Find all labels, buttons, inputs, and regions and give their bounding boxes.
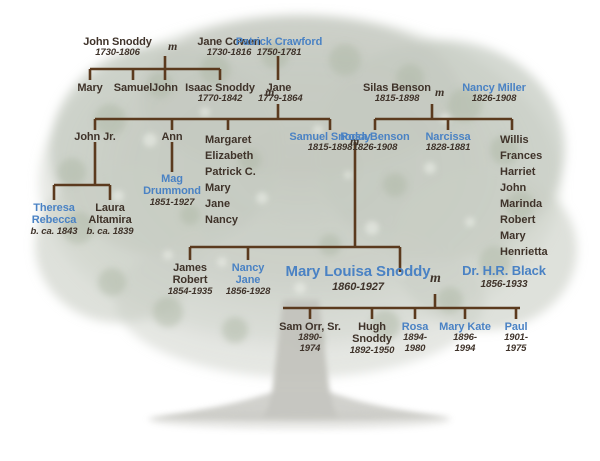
person-laura-altamira[interactable]: Laura Altamira b. ca. 1839 xyxy=(78,202,142,237)
person-sam-orr-sr[interactable]: Sam Orr, Sr. 1890- 1974 xyxy=(275,321,345,355)
person-name-line1: James xyxy=(160,262,220,274)
person-name: Dr. H.R. Black xyxy=(440,264,568,279)
list-item: Elizabeth xyxy=(205,148,256,164)
list-item: Marinda xyxy=(500,196,548,212)
list-item: Harriet xyxy=(500,164,548,180)
person-dates: 1779-1864 xyxy=(258,94,300,105)
person-name-line1: Laura xyxy=(78,202,142,214)
person-dates: 1770-1842 xyxy=(178,94,262,105)
person-rosa[interactable]: Rosa 1894- 1980 xyxy=(392,321,438,355)
person-dates: 1730-1806 xyxy=(70,48,165,59)
person-name-line2: Rebecca xyxy=(22,214,86,226)
list-item: John xyxy=(500,180,548,196)
person-name: Mary Louisa Snoddy xyxy=(283,264,433,281)
person-dr-hr-black[interactable]: Dr. H.R. Black 1856-1933 xyxy=(440,264,568,290)
isaac-other-children-list: Margaret Elizabeth Patrick C. Mary Jane … xyxy=(205,132,256,228)
list-item: Frances xyxy=(500,148,548,164)
person-dates: 1826-1908 xyxy=(448,94,540,105)
person-dates: 1750-1781 xyxy=(224,48,334,59)
person-dates-line2: 1994 xyxy=(433,344,497,355)
person-name-line1: Nancy xyxy=(218,262,278,274)
family-tree-image: John Snoddy 1730-1806 m Jane Cowen 1730-… xyxy=(0,0,600,461)
person-mag-drummond[interactable]: Mag Drummond 1851-1927 xyxy=(140,173,204,208)
person-name-line2: Jane xyxy=(218,274,278,286)
person-dates-line2: 1980 xyxy=(392,344,438,355)
person-nancy-jane[interactable]: Nancy Jane 1856-1928 xyxy=(218,262,278,297)
person-paul[interactable]: Paul 1901- 1975 xyxy=(494,321,538,355)
person-rosa-benson[interactable]: Rosa Benson 1826-1908 xyxy=(332,131,418,154)
list-item: Margaret xyxy=(205,132,256,148)
person-isaac-snoddy[interactable]: Isaac Snoddy 1770-1842 xyxy=(178,82,262,105)
list-item: Henrietta xyxy=(500,244,548,260)
marriage-symbol-benson-miller: m xyxy=(435,86,444,98)
person-dates: 1826-1908 xyxy=(332,143,418,154)
list-item: Jane xyxy=(205,196,256,212)
list-item: Mary xyxy=(205,180,256,196)
person-dates: 1851-1927 xyxy=(140,198,204,209)
person-dates: 1860-1927 xyxy=(283,281,433,293)
person-theresa-rebecca[interactable]: Theresa Rebecca b. ca. 1843 xyxy=(22,202,86,237)
list-item: Mary xyxy=(500,228,548,244)
person-name: Ann xyxy=(152,131,192,143)
list-item: Patrick C. xyxy=(205,164,256,180)
person-narcissa[interactable]: Narcissa 1828-1881 xyxy=(412,131,484,154)
person-name-line1: Theresa xyxy=(22,202,86,214)
person-john-snoddy[interactable]: John Snoddy 1730-1806 xyxy=(70,36,165,59)
person-nancy-miller[interactable]: Nancy Miller 1826-1908 xyxy=(448,82,540,105)
person-name: John Jr. xyxy=(62,131,128,143)
person-mary-kate[interactable]: Mary Kate 1896- 1994 xyxy=(433,321,497,355)
person-silas-benson[interactable]: Silas Benson 1815-1898 xyxy=(352,82,442,105)
person-jane[interactable]: Jane 1779-1864 xyxy=(258,82,300,105)
list-item: Willis xyxy=(500,132,548,148)
person-dates: 1856-1933 xyxy=(440,279,568,290)
list-item: Robert xyxy=(500,212,548,228)
person-name-line1: Mag xyxy=(140,173,204,185)
person-name-line2: Drummond xyxy=(140,185,204,197)
person-dates: 1828-1881 xyxy=(412,143,484,154)
person-john-jr[interactable]: John Jr. xyxy=(62,131,128,143)
person-dates: b. ca. 1843 xyxy=(22,227,86,238)
person-dates: 1854-1935 xyxy=(160,287,220,298)
person-mary-louisa-snoddy[interactable]: Mary Louisa Snoddy 1860-1927 xyxy=(283,264,433,293)
person-dates-line2: 1974 xyxy=(275,344,345,355)
person-dates-line2: 1975 xyxy=(494,344,538,355)
benson-other-children-list: Willis Frances Harriet John Marinda Robe… xyxy=(500,132,548,260)
person-ann[interactable]: Ann xyxy=(152,131,192,143)
person-dates: b. ca. 1839 xyxy=(78,227,142,238)
person-dates: 1815-1898 xyxy=(352,94,442,105)
person-james-robert[interactable]: James Robert 1854-1935 xyxy=(160,262,220,297)
person-dates: 1856-1928 xyxy=(218,287,278,298)
person-name-line2: Robert xyxy=(160,274,220,286)
person-name-line2: Altamira xyxy=(78,214,142,226)
marriage-symbol-snoddy-cowen: m xyxy=(168,40,177,52)
list-item: Nancy xyxy=(205,212,256,228)
person-patrick-crawford[interactable]: Patrick Crawford 1750-1781 xyxy=(224,36,334,59)
